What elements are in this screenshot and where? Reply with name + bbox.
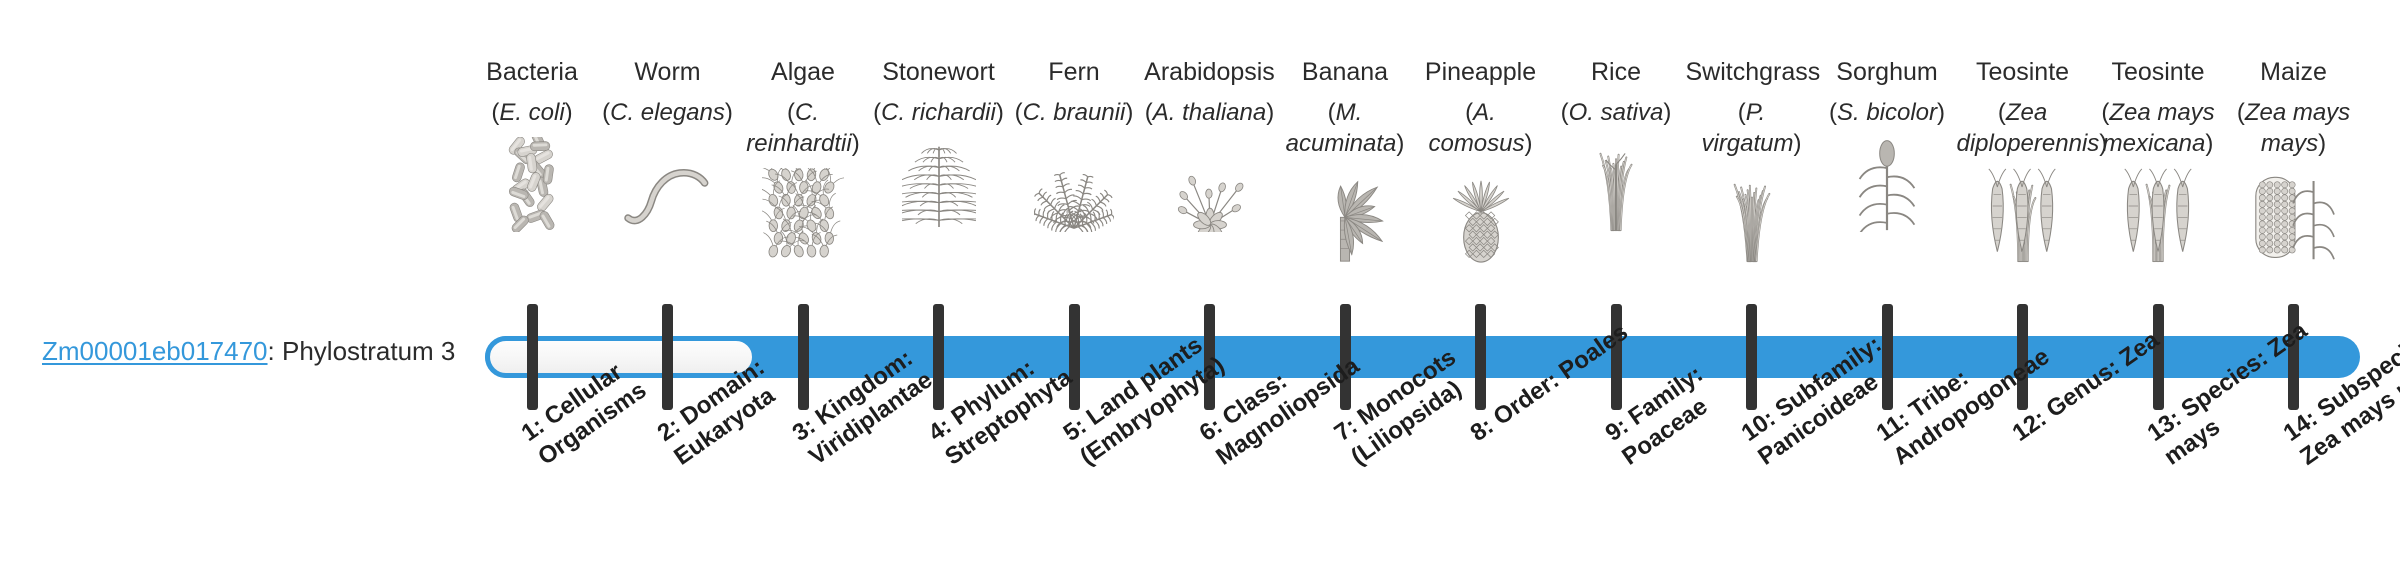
species-latin-text: M. acuminata [1286, 99, 1397, 157]
species-column-switchgrass-10: Switchgrass(P. virgatum) [1686, 56, 1818, 263]
fern-illustration [1008, 134, 1140, 232]
species-latin-name: (Zea diploperennis) [1957, 97, 2089, 159]
species-column-pineapple-8: Pineapple(A. comosus) [1415, 56, 1547, 263]
phylostratigraphy-timeline: Zm00001eb017470: Phylostratum 3 Bacteria… [0, 0, 2400, 580]
species-latin-text: A. comosus [1428, 99, 1524, 157]
worm-illustration [602, 134, 734, 232]
species-common-name: Arabidopsis [1144, 56, 1276, 88]
species-latin-name: (A. thaliana) [1144, 97, 1276, 128]
species-latin-text: S. bicolor [1837, 99, 1937, 126]
gene-phylostratum-label: Zm00001eb017470: Phylostratum 3 [42, 336, 455, 366]
species-latin-text: O. sativa [1569, 99, 1664, 126]
species-latin-text: E. coli [499, 99, 564, 126]
species-latin-name: (C. reinhardtii) [737, 97, 869, 159]
species-common-name: Stonewort [873, 56, 1005, 88]
species-common-name: Rice [1550, 56, 1682, 88]
species-common-name: Worm [602, 56, 734, 88]
species-column-algae-3: Algae(C. reinhardtii) [737, 56, 869, 263]
stonewort-illustration [873, 134, 1005, 232]
teosinte-diploperennis-illustration [1957, 165, 2089, 263]
species-common-name: Pineapple [1415, 56, 1547, 88]
species-common-name: Algae [737, 56, 869, 88]
banana-illustration [1279, 165, 1411, 263]
species-latin-name: (C. braunii) [1008, 97, 1140, 128]
rice-illustration [1550, 134, 1682, 232]
species-latin-name: (E. coli) [466, 97, 598, 128]
species-column-fern-5: Fern(C. braunii) [1008, 56, 1140, 232]
species-latin-name: (Zea mays mexicana) [2092, 97, 2224, 159]
species-common-name: Sorghum [1821, 56, 1953, 88]
species-column-bacteria-1: Bacteria(E. coli) [466, 56, 598, 232]
species-latin-text: P. virgatum [1701, 99, 1793, 157]
species-latin-name: (Zea mays mays) [2228, 97, 2360, 159]
species-column-rice-9: Rice(O. sativa) [1550, 56, 1682, 232]
species-latin-text: Zea mays mays [2245, 99, 2350, 157]
species-column-banana-7: Banana(M. acuminata) [1279, 56, 1411, 263]
species-column-teosinte-12: Teosinte(Zea diploperennis) [1957, 56, 2089, 263]
species-column-worm-2: Worm(C. elegans) [602, 56, 734, 232]
species-latin-name: (O. sativa) [1550, 97, 1682, 128]
sorghum-illustration [1821, 134, 1953, 232]
phylostratum-text: Phylostratum 3 [282, 336, 455, 366]
species-latin-name: (M. acuminata) [1279, 97, 1411, 159]
stratum-tick-1[interactable] [527, 304, 538, 410]
species-column-arabidopsis-6: Arabidopsis(A. thaliana) [1144, 56, 1276, 232]
species-common-name: Banana [1279, 56, 1411, 88]
pineapple-illustration [1415, 165, 1547, 263]
maize-illustration [2228, 165, 2360, 263]
species-column-sorghum-11: Sorghum(S. bicolor) [1821, 56, 1953, 232]
species-common-name: Fern [1008, 56, 1140, 88]
arabidopsis-illustration [1144, 134, 1276, 232]
species-latin-name: (C. richardii) [873, 97, 1005, 128]
species-column-stonewort-4: Stonewort(C. richardii) [873, 56, 1005, 232]
species-column-teosinte-13: Teosinte(Zea mays mexicana) [2092, 56, 2224, 263]
switchgrass-illustration [1686, 165, 1818, 263]
species-common-name: Switchgrass [1686, 56, 1818, 88]
species-latin-name: (P. virgatum) [1686, 97, 1818, 159]
species-common-name: Teosinte [2092, 56, 2224, 88]
algae-illustration [737, 165, 869, 263]
species-latin-text: C. elegans [610, 99, 725, 126]
species-latin-name: (S. bicolor) [1821, 97, 1953, 128]
species-latin-text: C. braunii [1023, 99, 1126, 126]
species-column-maize-14: Maize(Zea mays mays) [2228, 56, 2360, 263]
gene-label-separator: : [268, 336, 282, 366]
species-latin-text: C. reinhardtii [746, 99, 851, 157]
species-latin-text: Zea diploperennis [1957, 99, 2100, 157]
species-latin-name: (C. elegans) [602, 97, 734, 128]
teosinte-mexicana-illustration [2092, 165, 2224, 263]
species-common-name: Bacteria [466, 56, 598, 88]
gene-id-link[interactable]: Zm00001eb017470 [42, 336, 268, 366]
species-latin-name: (A. comosus) [1415, 97, 1547, 159]
species-latin-text: A. thaliana [1153, 99, 1266, 126]
species-common-name: Teosinte [1957, 56, 2089, 88]
species-latin-text: Zea mays mexicana [2103, 99, 2215, 157]
bacteria-illustration [466, 134, 598, 232]
species-common-name: Maize [2228, 56, 2360, 88]
species-latin-text: C. richardii [881, 99, 996, 126]
